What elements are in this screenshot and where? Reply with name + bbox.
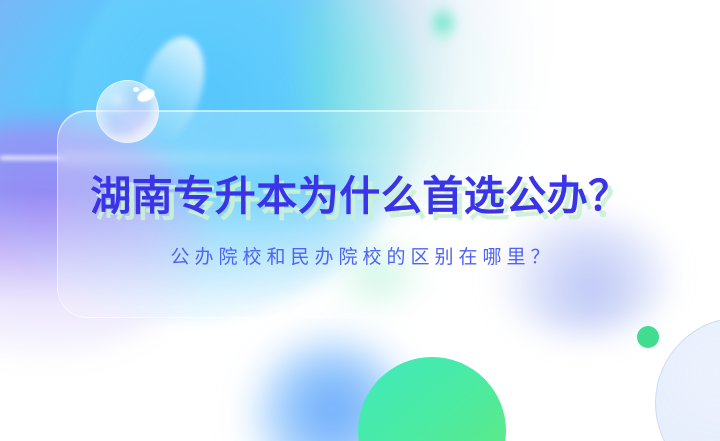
page-subtitle: 公办院校和民办院校的区别在哪里？ [0,247,720,270]
text-block: 湖南专升本为什么首选公办？ 公办院校和民办院校的区别在哪里？ [0,0,720,441]
page-title: 湖南专升本为什么首选公办？ [0,176,720,217]
poster-canvas: 湖南专升本为什么首选公办？ 公办院校和民办院校的区别在哪里？ [0,0,720,441]
